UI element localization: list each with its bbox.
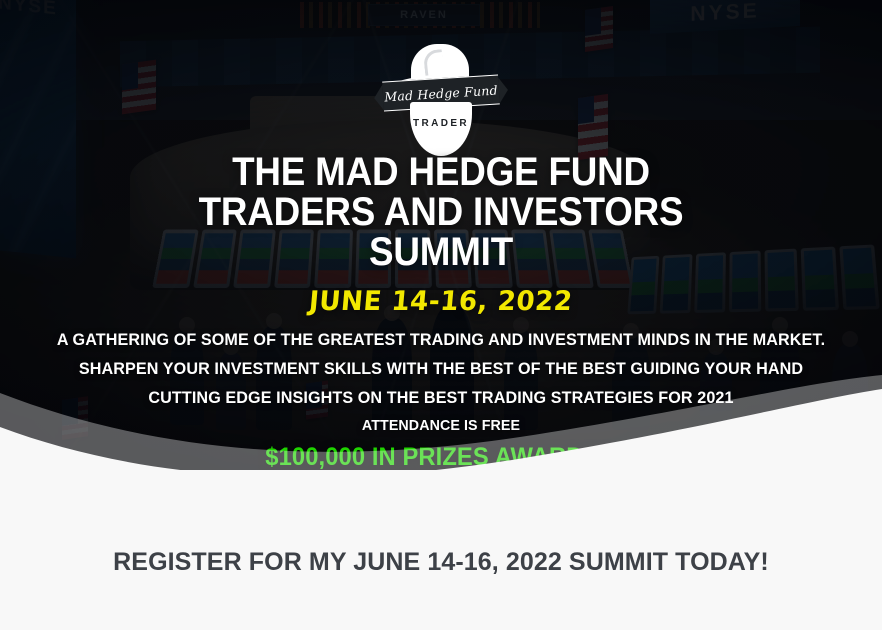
page-title: THE MAD HEDGE FUND TRADERS AND INVESTORS… <box>147 152 736 272</box>
logo-badge-text: TRADER <box>413 118 469 129</box>
prize-callout: $100,000 IN PRIZES AWARDED <box>52 445 831 470</box>
hero-bullet-line: ATTENDANCE IS FREE <box>52 418 831 433</box>
hero-bullet-line: A GATHERING OF SOME OF THE GREATEST TRAD… <box>52 331 831 348</box>
hero-bullet-line: CUTTING EDGE INSIGHTS ON THE BEST TRADIN… <box>52 389 831 406</box>
hero-bullet-line: SHARPEN YOUR INVESTMENT SKILLS WITH THE … <box>52 360 831 377</box>
logo-banner-text: Mad Hedge Fund <box>384 82 498 104</box>
register-heading: REGISTER FOR MY JUNE 14-16, 2022 SUMMIT … <box>113 548 769 577</box>
hero-bullet-list: A GATHERING OF SOME OF THE GREATEST TRAD… <box>31 331 851 470</box>
event-date: JUNE 14-16, 2022 <box>308 286 574 317</box>
register-section: REGISTER FOR MY JUNE 14-16, 2022 SUMMIT … <box>0 470 882 630</box>
hero-section: NYSE RAVEN NYSE <box>0 0 882 470</box>
hero-content: Mad Hedge Fund TRADER THE MAD HEDGE FUND… <box>0 0 882 470</box>
logo-shield-badge: TRADER <box>410 102 472 156</box>
mad-hedge-fund-trader-logo: Mad Hedge Fund TRADER <box>377 30 505 140</box>
